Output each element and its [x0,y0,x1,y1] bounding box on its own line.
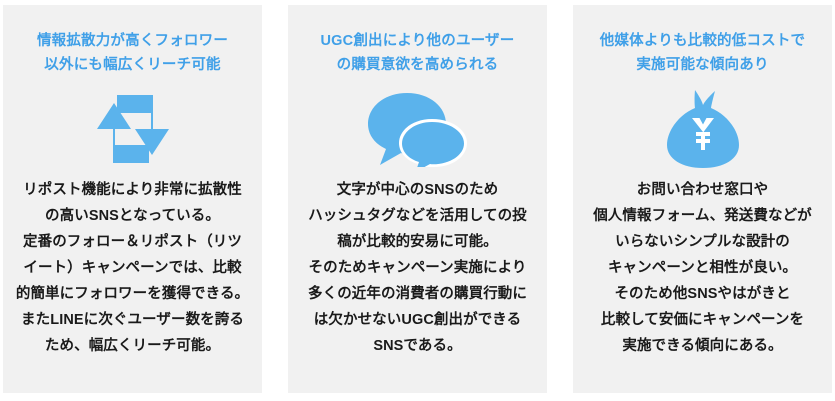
card-body-line: リポスト機能により非常に拡散性 [11,177,254,203]
card-title-line: 実施可能な傾向あり [583,53,822,77]
speech-bubbles-icon [366,91,470,167]
card-body-line: そのためキャンペーン実施により [296,255,539,281]
card-body-line: 稿が比較的安易に可能。 [296,229,539,255]
card-body-line: またLINEに次ぐユーザー数を誇る [11,307,254,333]
card-icon-wrap [573,81,832,177]
card-title-line: 情報拡散力が高くフォロワー [13,29,252,53]
card-body-line: 文字が中心のSNSのため [296,177,539,203]
card-title-line: の購買意欲を高められる [298,53,537,77]
card-title-line: 他媒体よりも比較的低コストで [583,29,822,53]
benefit-cards-row: 情報拡散力が高くフォロワー 以外にも幅広くリーチ可能 リポスト機能により非常に拡… [0,0,835,401]
card-body: お問い合わせ窓口や 個人情報フォーム、発送費などが いらないシンプルな設計の キ… [573,177,832,359]
card-body-line: お問い合わせ窓口や [581,177,824,203]
card-body-line: イート）キャンペーンでは、比較 [11,255,254,281]
benefit-card-low-cost: 他媒体よりも比較的低コストで 実施可能な傾向あり お問い合わせ窓口や 個人情報フ… [573,5,832,393]
card-icon-wrap [288,81,547,177]
card-title: 情報拡散力が高くフォロワー 以外にも幅広くリーチ可能 [3,5,262,77]
card-body-line: キャンペーンと相性が良い。 [581,255,824,281]
card-body-line: 多くの近年の消費者の購買行動に [296,281,539,307]
card-body-line: そのため他SNSやはがきと [581,281,824,307]
card-body-line: 実施できる傾向にある。 [581,333,824,359]
card-body-line: は欠かせないUGC創出ができる [296,307,539,333]
card-title: 他媒体よりも比較的低コストで 実施可能な傾向あり [573,5,832,77]
card-body-line: 個人情報フォーム、発送費などが [581,203,824,229]
card-title-line: 以外にも幅広くリーチ可能 [13,53,252,77]
card-title: UGC創出により他のユーザー の購買意欲を高められる [288,5,547,77]
card-title-line: UGC創出により他のユーザー [298,29,537,53]
card-body-line: 比較して安価にキャンペーンを [581,307,824,333]
card-body-line: ため、幅広くリーチ可能。 [11,333,254,359]
money-bag-yen-icon [662,88,744,170]
card-body-line: の高いSNSとなっている。 [11,203,254,229]
benefit-card-ugc: UGC創出により他のユーザー の購買意欲を高められる 文字が中心のSNSのため … [288,5,547,393]
card-body-line: 定番のフォロー＆リポスト（リツ [11,229,254,255]
card-body: リポスト機能により非常に拡散性 の高いSNSとなっている。 定番のフォロー＆リポ… [3,177,262,359]
card-body-line: いらないシンプルな設計の [581,229,824,255]
card-body-line: SNSである。 [296,333,539,359]
card-body-line: ハッシュタグなどを活用しての投 [296,203,539,229]
card-icon-wrap [3,81,262,177]
repost-icon [89,93,177,165]
card-body-line: 的簡単にフォロワーを獲得できる。 [11,281,254,307]
card-body: 文字が中心のSNSのため ハッシュタグなどを活用しての投 稿が比較的安易に可能。… [288,177,547,359]
benefit-card-repost: 情報拡散力が高くフォロワー 以外にも幅広くリーチ可能 リポスト機能により非常に拡… [3,5,262,393]
